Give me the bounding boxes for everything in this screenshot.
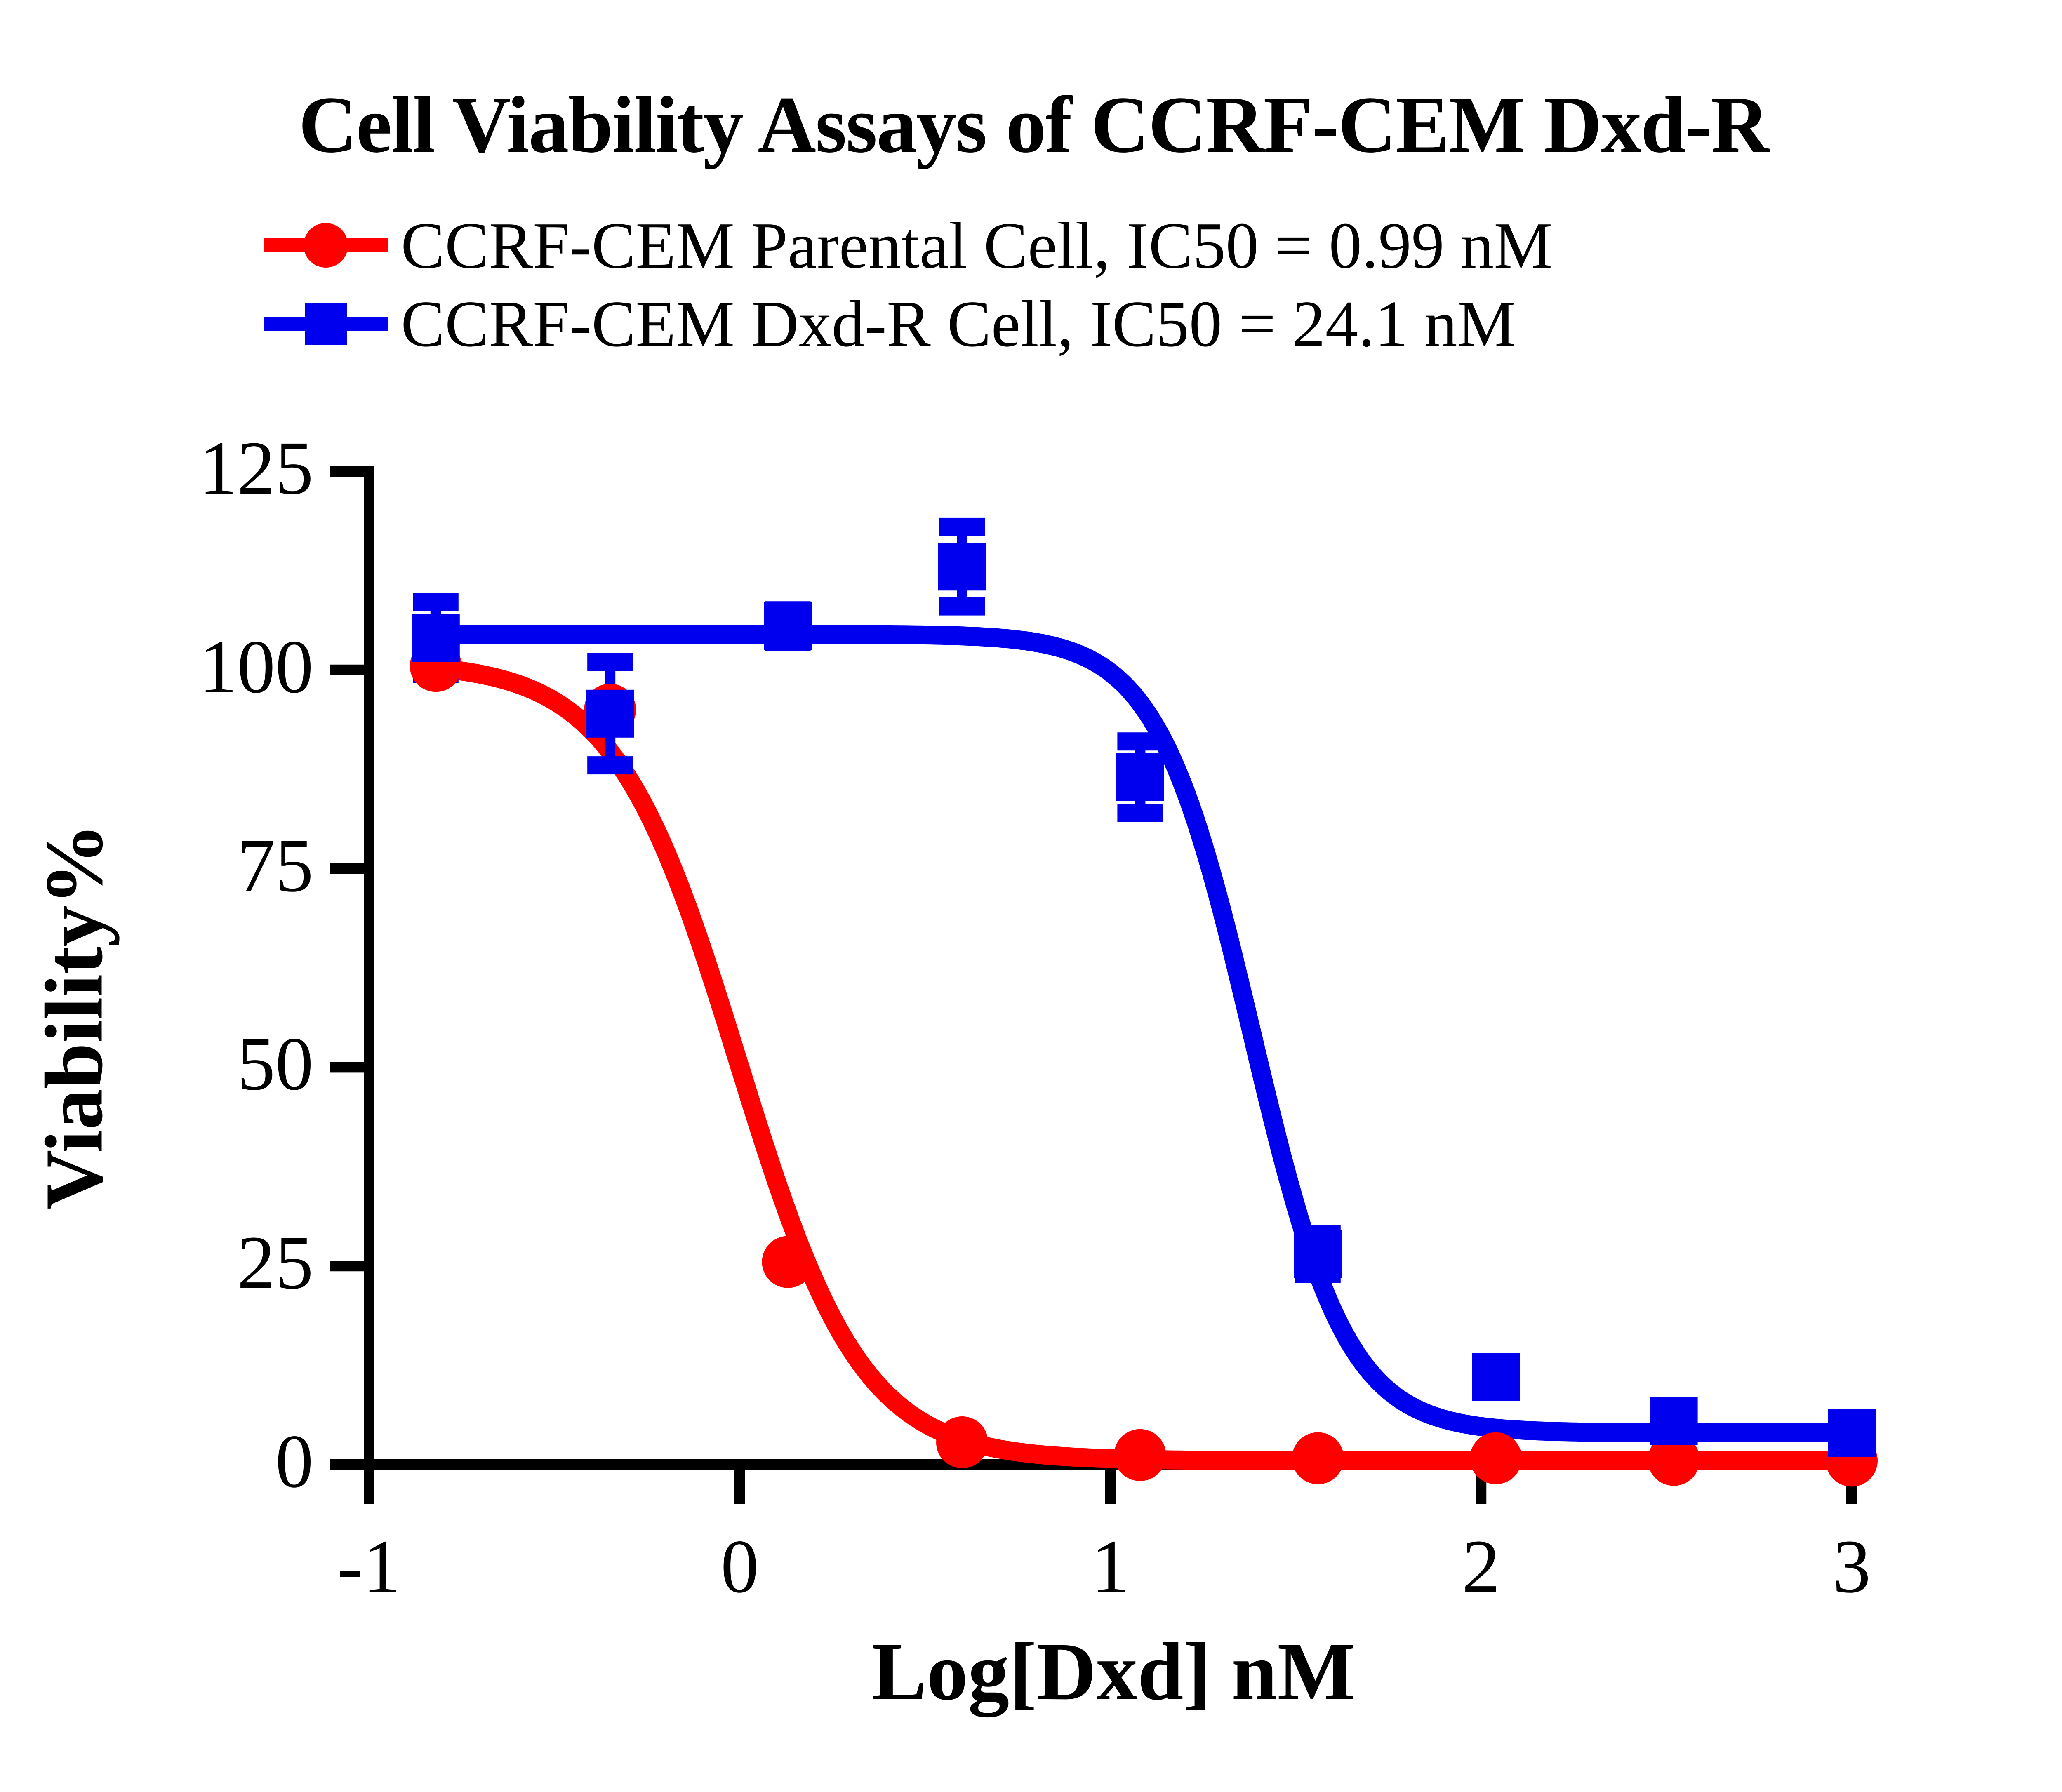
data-point-marker-square bbox=[1472, 1353, 1520, 1401]
x-axis-tick-label: 3 bbox=[1728, 1529, 1975, 1605]
y-axis-title: Viability% bbox=[27, 769, 122, 1264]
x-axis-tick-label: 2 bbox=[1357, 1529, 1605, 1605]
data-point-marker-square bbox=[938, 543, 986, 590]
data-point-marker-square bbox=[764, 602, 812, 650]
y-axis-tick-label: 50 bbox=[237, 1026, 313, 1102]
data-point-marker-circle bbox=[1292, 1432, 1344, 1484]
y-axis-tick-label: 125 bbox=[199, 430, 314, 506]
x-axis-tick-label: 0 bbox=[616, 1529, 864, 1605]
y-axis-tick-label: 100 bbox=[199, 629, 314, 705]
data-point-marker-circle bbox=[762, 1236, 814, 1288]
data-point-marker-square bbox=[1650, 1397, 1698, 1445]
data-point-marker-circle bbox=[936, 1416, 988, 1468]
y-axis-tick-label: 75 bbox=[237, 828, 313, 904]
x-axis-title: Log[Dxd] nM bbox=[371, 1625, 1856, 1719]
data-point-marker-square bbox=[1116, 753, 1164, 801]
x-axis-tick-label: 1 bbox=[987, 1529, 1234, 1605]
y-axis-tick-label: 25 bbox=[237, 1225, 313, 1301]
plot-area: 0255075100125 -10123 Viability% Log[Dxd]… bbox=[0, 0, 2062, 1792]
y-axis-tick-label: 0 bbox=[275, 1423, 314, 1500]
chart-figure: Cell Viability Assays of CCRF-CEM Dxd-R … bbox=[0, 0, 2062, 1792]
data-point-marker-circle bbox=[1114, 1429, 1166, 1481]
data-point-marker-square bbox=[412, 614, 460, 662]
data-point-marker-circle bbox=[1470, 1432, 1522, 1484]
data-point-marker-square bbox=[1294, 1230, 1342, 1278]
x-axis-tick-label: -1 bbox=[245, 1529, 493, 1605]
data-point-marker-square bbox=[586, 690, 634, 738]
data-point-marker-square bbox=[1828, 1409, 1876, 1457]
